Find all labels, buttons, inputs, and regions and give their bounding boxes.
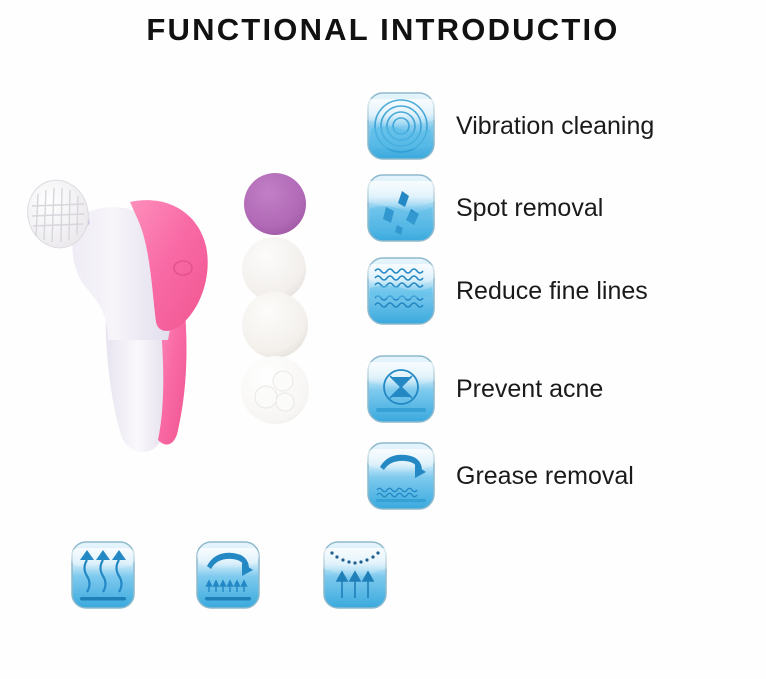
- infographic-page: FUNCTIONAL INTRODUCTIO: [0, 0, 766, 679]
- attachment-purple-disc: [243, 172, 307, 236]
- bottom-feature-exfoliate[interactable]: Exfoliate: [195, 540, 261, 610]
- attachment-white-sponge-2: [241, 291, 309, 359]
- page-title: FUNCTIONAL INTRODUCTIO: [0, 12, 766, 48]
- wavy-lines-icon: [366, 256, 436, 326]
- feature-row-spot-removal[interactable]: Spot removal: [366, 172, 756, 244]
- spot-droplets-icon: [366, 173, 436, 243]
- feature-row-prevent-acne[interactable]: Prevent acne: [366, 353, 756, 425]
- feature-row-vibration-cleaning[interactable]: Vibration cleaning: [366, 90, 756, 162]
- product-image: [18, 150, 248, 460]
- feature-label: Grease removal: [456, 464, 634, 489]
- attachment-massage-head: [240, 355, 310, 425]
- feature-label: Spot removal: [456, 196, 603, 221]
- swirl-arrow-up-arrows-icon: [195, 540, 261, 610]
- wavy-up-arrows-icon: [70, 540, 136, 610]
- curved-arrow-icon: [366, 441, 436, 511]
- circle-x-icon: [366, 354, 436, 424]
- feature-label: Reduce fine lines: [456, 279, 648, 304]
- feature-label: Vibration cleaning: [456, 114, 654, 139]
- dotted-arc-arrows-icon: [322, 540, 388, 610]
- feature-row-grease-removal[interactable]: Grease removal: [366, 440, 756, 512]
- feature-row-reduce-fine-lines[interactable]: Reduce fine lines: [366, 255, 756, 327]
- bottom-feature-expel-toxins[interactable]: Expel toxins: [70, 540, 136, 610]
- feature-label: Prevent acne: [456, 377, 603, 402]
- bottom-feature-improves-skin-elasticity[interactable]: Improves skin elasticity: [322, 540, 388, 610]
- vibration-waves-icon: [366, 91, 436, 161]
